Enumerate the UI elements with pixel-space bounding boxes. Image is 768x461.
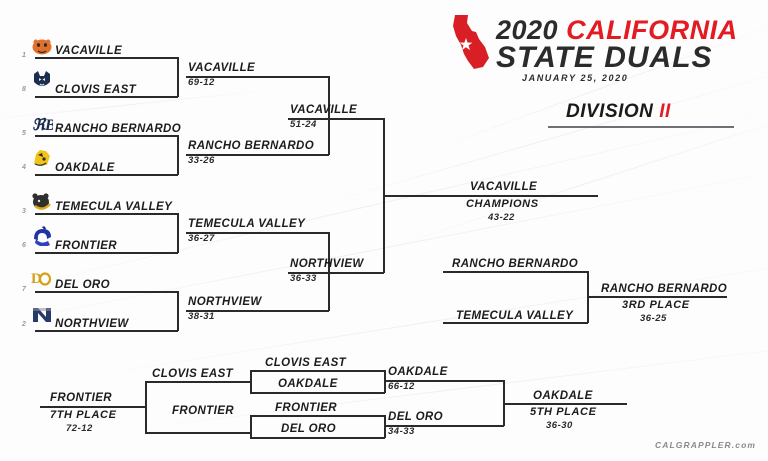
slot-line-8: [35, 330, 178, 332]
champion-score: 43-22: [488, 212, 515, 223]
team-name-temecula-valley: TEMECULA VALLEY: [55, 201, 172, 213]
consolation-left-semi-2: FRONTIER: [172, 405, 234, 417]
qf-winner-2: RANCHO BERNARDO: [188, 140, 314, 152]
seed-4: 4: [22, 164, 26, 171]
consolation-match-1-top-line: [250, 370, 385, 372]
consolation-right-semi-score-1: 66-12: [388, 381, 415, 392]
team-name-vacaville: VACAVILLE: [55, 45, 122, 57]
consolation-right-semi-score-2: 34-33: [388, 426, 415, 437]
qf-winner-3: TEMECULA VALLEY: [188, 218, 305, 230]
seed-8: 8: [22, 86, 26, 93]
consolation-match-2-top: FRONTIER: [275, 402, 337, 414]
rancho-bernardo-rb-logo: ℜB: [31, 114, 53, 134]
consolation-left-connector: [145, 381, 147, 433]
slot-line-7: [35, 291, 178, 293]
consolation-match-1-top: CLOVIS EAST: [265, 357, 346, 369]
del-oro-do-logo: D: [31, 268, 53, 288]
third-place-line-2: [443, 322, 588, 324]
seed-7: 7: [22, 286, 26, 293]
qf-score-1: 69-12: [188, 77, 215, 88]
event-date: JANUARY 25, 2020: [522, 73, 628, 83]
qf-line-4: [186, 310, 329, 312]
consolation-match-2-right: [384, 415, 386, 438]
consolation-right-semi-line-1: [384, 380, 504, 382]
qf-connector-4: [177, 291, 179, 331]
consolation-match-2-bottom-line: [250, 437, 385, 439]
division-title: DIVISION II: [566, 101, 671, 123]
seventh-place-label: 7TH PLACE: [50, 409, 117, 421]
slot-line-2: [35, 96, 178, 98]
consolation-match-1-bottom: OAKDALE: [278, 378, 338, 390]
consolation-match-2-top-line: [250, 415, 385, 417]
division-underline: [548, 126, 734, 128]
team-name-clovis-east: CLOVIS EAST: [55, 84, 136, 96]
third-place-score: 36-25: [640, 313, 667, 324]
seventh-place-line: [40, 406, 146, 408]
sf-score-1: 51-24: [290, 119, 317, 130]
seed-2: 2: [22, 321, 26, 328]
qf-connector-2: [177, 135, 179, 175]
fifth-place-label: 5TH PLACE: [530, 406, 597, 418]
division-number: II: [659, 101, 671, 122]
qf-score-4: 38-31: [188, 311, 215, 322]
slot-line-5: [35, 213, 178, 215]
consolation-right-semi-2: DEL ORO: [388, 411, 443, 423]
team-name-rancho-bernardo: RANCHO BERNARDO: [55, 123, 181, 135]
sf-line-1: [288, 118, 384, 120]
fifth-place-score: 36-30: [546, 420, 573, 431]
final-feed-line: [383, 195, 413, 197]
oakdale-mustang-logo: [31, 148, 53, 168]
slot-line-1: [35, 57, 178, 59]
consolation-right-semi-line-2: [384, 425, 504, 427]
vacaville-bulldog-logo: [31, 36, 53, 56]
seventh-place-winner: FRONTIER: [50, 392, 112, 404]
champion-team: VACAVILLE: [470, 181, 537, 193]
consolation-left-semi-line-1: [145, 381, 250, 383]
team-name-frontier: FRONTIER: [55, 240, 117, 252]
consolation-left-semi-1: CLOVIS EAST: [152, 368, 233, 380]
qf-winner-1: VACAVILLE: [188, 62, 255, 74]
fifth-place-winner: OAKDALE: [533, 390, 593, 402]
sf-winner-1: VACAVILLE: [290, 104, 357, 116]
event-logo: 2020 CALIFORNIA STATE DUALS JANUARY 25, …: [452, 8, 752, 78]
team-name-northview: NORTHVIEW: [55, 318, 129, 330]
sf-score-2: 36-33: [290, 273, 317, 284]
fifth-place-line: [503, 403, 627, 405]
third-place-entrant-2: TEMECULA VALLEY: [456, 310, 573, 322]
team-name-oakdale: OAKDALE: [55, 162, 115, 174]
division-label: DIVISION: [566, 101, 653, 122]
sf-line-2: [288, 272, 384, 274]
seed-6: 6: [22, 242, 26, 249]
consolation-left-semi-line-2: [145, 432, 250, 434]
frontier-titan-logo: [31, 226, 53, 246]
sf-winner-2: NORTHVIEW: [290, 258, 364, 270]
qf-line-1: [186, 76, 329, 78]
consolation-right-semi-1: OAKDALE: [388, 366, 448, 378]
consolation-match-2-left: [250, 415, 252, 438]
slot-line-4: [35, 174, 178, 176]
clovis-east-wolf-logo: [31, 70, 53, 90]
consolation-match-1-bottom-line: [250, 392, 385, 394]
seed-1: 1: [22, 52, 26, 59]
svg-text:ℜB: ℜB: [32, 117, 53, 134]
northview-n-logo: [31, 305, 53, 325]
seed-3: 3: [22, 208, 26, 215]
seventh-place-score: 72-12: [66, 423, 93, 434]
qf-connector-1: [177, 57, 179, 97]
seed-5: 5: [22, 130, 26, 137]
third-place-entrant-1: RANCHO BERNARDO: [452, 258, 578, 270]
slot-line-6: [35, 252, 178, 254]
bracket-canvas: 2020 CALIFORNIA STATE DUALS JANUARY 25, …: [0, 0, 768, 461]
champion-line: [412, 195, 598, 197]
qf-connector-3: [177, 213, 179, 253]
event-title-line2: STATE DUALS: [496, 43, 713, 73]
consolation-match-2-bottom: DEL ORO: [281, 423, 336, 435]
third-place-winner-line: [587, 296, 727, 298]
consolation-match-1-right: [384, 370, 386, 393]
temecula-valley-bear-logo: [31, 192, 53, 212]
event-title-line1: 2020 CALIFORNIA: [496, 17, 738, 44]
qf-score-2: 33-26: [188, 155, 215, 166]
champion-place: CHAMPIONS: [466, 198, 539, 210]
slot-line-3: [35, 135, 178, 137]
third-place-label: 3RD PLACE: [622, 299, 690, 311]
third-place-winner: RANCHO BERNARDO: [601, 283, 727, 295]
california-state-icon: [452, 14, 492, 70]
third-place-line-1: [443, 271, 588, 273]
team-name-del-oro: DEL ORO: [55, 279, 110, 291]
consolation-match-1-left: [250, 370, 252, 393]
qf-winner-4: NORTHVIEW: [188, 296, 262, 308]
qf-score-3: 36-27: [188, 233, 215, 244]
qf-line-2: [186, 154, 329, 156]
qf-line-3: [186, 232, 329, 234]
site-watermark: CALGRAPPLER.com: [655, 440, 756, 450]
